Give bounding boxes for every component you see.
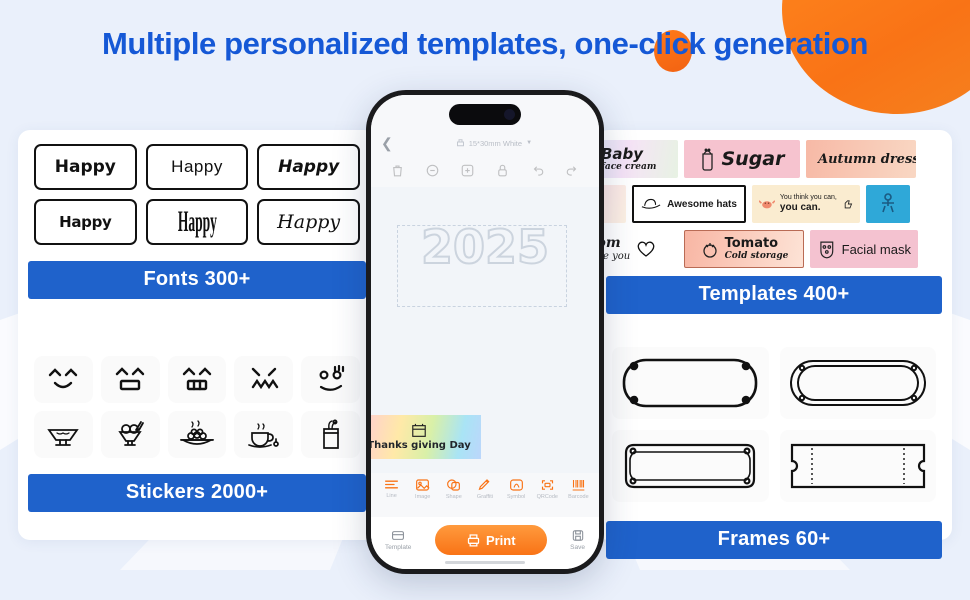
- save-button-label: Save: [570, 544, 585, 551]
- font-sample-label: Happy: [55, 157, 116, 177]
- chevron-down-icon: ▼: [526, 140, 532, 146]
- calendar-icon: [410, 423, 428, 439]
- symbol-icon: [509, 478, 524, 492]
- tool-label: Symbol: [507, 494, 525, 500]
- undo-icon[interactable]: [530, 163, 545, 178]
- stickers-section: Stickers 2000+: [18, 342, 376, 512]
- delete-icon[interactable]: [390, 163, 405, 178]
- lock-icon[interactable]: [495, 163, 510, 178]
- tool-image[interactable]: Image: [408, 478, 438, 500]
- font-sample-4[interactable]: Happy: [34, 199, 137, 245]
- add-icon[interactable]: [460, 163, 475, 178]
- frames-grid: [612, 347, 936, 502]
- fonts-grid: Happy Happy Happy Happy Happy Happy: [34, 144, 360, 245]
- templates-row: Mom I love you Tomato Cold storage: [596, 230, 952, 268]
- frame-ticket-stub[interactable]: [780, 430, 937, 502]
- page-title: Multiple personalized templates, one-cli…: [0, 26, 970, 62]
- crab-icon: [759, 195, 775, 213]
- phone-action-bar: Template Print Save: [371, 517, 599, 569]
- tool-qrcode[interactable]: QRCode: [532, 478, 562, 500]
- frames-section: Frames 60+: [596, 335, 952, 559]
- home-indicator: [445, 561, 525, 564]
- templates-row: the life Awesome hats: [596, 185, 952, 223]
- ticket-stub-frame-icon: [788, 439, 928, 493]
- template-subtitle: Cold storage: [725, 251, 789, 261]
- tool-label: Shape: [446, 494, 462, 500]
- redo-icon[interactable]: [565, 163, 580, 178]
- template-button-label: Template: [385, 544, 411, 551]
- template-title: Tomato: [725, 237, 789, 252]
- label-thanksgiving-day[interactable]: Thanks giving Day: [371, 415, 481, 459]
- heart-outline-icon: [635, 239, 657, 259]
- frame-ornate-notched[interactable]: [612, 430, 769, 502]
- fonts-section: Happy Happy Happy Happy Happy Happy Font…: [18, 130, 376, 299]
- label-thanksgiving-text: Thanks giving Day: [371, 440, 471, 451]
- print-button[interactable]: Print: [435, 525, 547, 555]
- sticker-open-mouth-face[interactable]: [101, 356, 160, 403]
- template-awesome-hats[interactable]: Awesome hats: [632, 185, 746, 223]
- sticker-drink-cup[interactable]: [301, 411, 360, 458]
- templates-count-bar: Templates 400+: [606, 276, 942, 314]
- line-icon: [384, 478, 399, 491]
- template-title: Autumn dress: [818, 152, 916, 167]
- tomato-icon: [700, 239, 720, 259]
- thumbs-up-icon: [842, 197, 853, 211]
- font-sample-1[interactable]: Happy: [34, 144, 137, 190]
- templates-row: Baby face cream Sugar Aut: [596, 140, 952, 178]
- template-subtitle: you can.: [780, 202, 837, 213]
- templates-section: Baby face cream Sugar Aut: [596, 130, 952, 314]
- fonts-count-bar: Fonts 300+: [28, 261, 366, 299]
- template-title: Awesome hats: [667, 199, 737, 210]
- hat-icon: [641, 197, 661, 211]
- font-sample-label: Happy: [177, 205, 216, 239]
- left-feature-panel: Happy Happy Happy Happy Happy Happy Font…: [18, 130, 376, 540]
- tool-graffiti[interactable]: Graffiti: [470, 478, 500, 500]
- tool-label: Graffiti: [477, 494, 493, 500]
- tool-symbol[interactable]: Symbol: [501, 478, 531, 500]
- qrcode-icon: [540, 478, 555, 492]
- stickers-count-bar: Stickers 2000+: [28, 474, 366, 512]
- gingerbread-icon: [878, 193, 898, 215]
- phone-canvas[interactable]: 2025 Happy birthday Thanks giving Day Ca…: [371, 187, 599, 473]
- font-sample-5[interactable]: Happy: [146, 199, 249, 245]
- image-icon: [415, 478, 430, 492]
- templates-grid: Baby face cream Sugar Aut: [596, 130, 952, 276]
- template-gingerbread[interactable]: [866, 185, 910, 223]
- template-button[interactable]: Template: [385, 529, 411, 551]
- printer-icon: [466, 533, 481, 547]
- sticker-dumpling-plate[interactable]: [168, 411, 227, 458]
- ornate-notched-frame-icon: [620, 439, 760, 493]
- template-title: Sugar: [721, 148, 784, 170]
- sticker-zigzag-mouth-face[interactable]: [234, 356, 293, 403]
- copy-icon[interactable]: [425, 163, 440, 178]
- phone-screen: ❮ 15*30mm White ▼ 2025 Happy birthday: [371, 95, 599, 569]
- tool-barcode[interactable]: Barcode: [563, 478, 593, 500]
- label-size-value: 15*30mm White: [469, 139, 522, 148]
- template-icon: [391, 529, 405, 542]
- template-title: Facial mask: [842, 242, 911, 257]
- stickers-grid: [34, 356, 360, 458]
- phone-mockup: ❮ 15*30mm White ▼ 2025 Happy birthday: [366, 90, 604, 574]
- sugar-shaker-icon: [699, 146, 716, 172]
- sticker-smiling-face[interactable]: [34, 356, 93, 403]
- template-you-think-you-can[interactable]: You think you can, you can.: [752, 185, 860, 223]
- font-sample-label: Happy: [59, 213, 111, 231]
- sticker-ice-cream-sundae[interactable]: [101, 411, 160, 458]
- face-mask-icon: [817, 238, 837, 260]
- font-sample-label: Happy: [277, 211, 340, 233]
- back-chevron-icon[interactable]: ❮: [381, 135, 393, 152]
- sticker-coffee-cup[interactable]: [234, 411, 293, 458]
- template-autumn-dress[interactable]: Autumn dress: [806, 140, 916, 178]
- tool-label: QRCode: [537, 494, 558, 500]
- tool-label: Barcode: [568, 494, 589, 500]
- save-button[interactable]: Save: [570, 529, 585, 551]
- template-title: You think you can,: [780, 194, 837, 202]
- template-sugar[interactable]: Sugar: [684, 140, 800, 178]
- printer-icon: [456, 139, 465, 148]
- frames-count-bar: Frames 60+: [606, 521, 942, 559]
- print-button-label: Print: [486, 533, 516, 548]
- font-sample-3[interactable]: Happy: [257, 144, 360, 190]
- frame-rounded-corner-bolts[interactable]: [612, 347, 769, 419]
- label-size-selector[interactable]: 15*30mm White ▼: [399, 139, 589, 148]
- font-sample-label: Happy: [171, 157, 223, 177]
- canvas-year-text[interactable]: 2025: [421, 229, 549, 267]
- tool-label: Line: [386, 493, 396, 499]
- sticker-rice-bowl[interactable]: [34, 411, 93, 458]
- graffiti-icon: [477, 478, 492, 492]
- tool-line[interactable]: Line: [377, 478, 407, 499]
- phone-edit-toolbar: [371, 153, 599, 187]
- dynamic-island: [449, 104, 521, 125]
- sticker-teeth-face[interactable]: [168, 356, 227, 403]
- frame-stadium-rivets[interactable]: [780, 347, 937, 419]
- right-feature-panel: Baby face cream Sugar Aut: [596, 130, 952, 540]
- save-icon: [571, 529, 585, 542]
- template-tomato-cold-storage[interactable]: Tomato Cold storage: [684, 230, 804, 268]
- stadium-rivets-frame-icon: [788, 356, 928, 410]
- barcode-icon: [571, 478, 586, 492]
- template-title: Baby: [601, 146, 656, 163]
- rounded-corner-bolts-frame-icon: [620, 356, 760, 410]
- sticker-surprised-face[interactable]: [301, 356, 360, 403]
- template-baby-face-cream[interactable]: Baby face cream: [596, 140, 678, 178]
- template-subtitle: face cream: [601, 162, 656, 172]
- font-sample-2[interactable]: Happy: [146, 144, 249, 190]
- font-sample-6[interactable]: Happy: [257, 199, 360, 245]
- font-sample-label: Happy: [278, 157, 339, 177]
- tool-shape[interactable]: Shape: [439, 478, 469, 500]
- tool-label: Image: [415, 494, 430, 500]
- template-facial-mask[interactable]: Facial mask: [810, 230, 918, 268]
- phone-insert-toolbar: Line Image Shape Graffiti Symbol QRCode: [371, 473, 599, 517]
- template-mom-i-love-you[interactable]: Mom I love you: [596, 230, 678, 268]
- shape-icon: [446, 478, 461, 492]
